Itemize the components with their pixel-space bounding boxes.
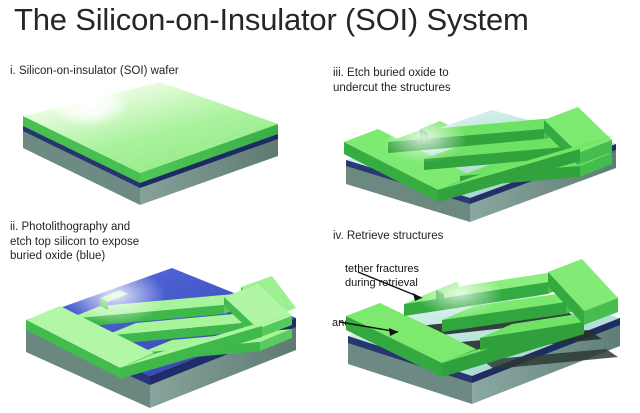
soi-wafer-figure — [8, 78, 318, 208]
specular-highlight — [415, 278, 525, 338]
patterned-silicon-figure — [8, 240, 318, 412]
specular-highlight — [50, 85, 166, 151]
undercut-figure — [330, 88, 640, 228]
page-title: The Silicon-on-Insulator (SOI) System — [14, 2, 529, 38]
panel-iv-caption: iv. Retrieve structures — [333, 229, 443, 244]
title-divider — [10, 47, 630, 48]
specular-highlight — [385, 118, 495, 182]
specular-highlight — [66, 274, 190, 346]
panel-i-caption: i. Silicon-on-insulator (SOI) wafer — [10, 64, 179, 79]
retrieve-figure — [330, 248, 640, 413]
